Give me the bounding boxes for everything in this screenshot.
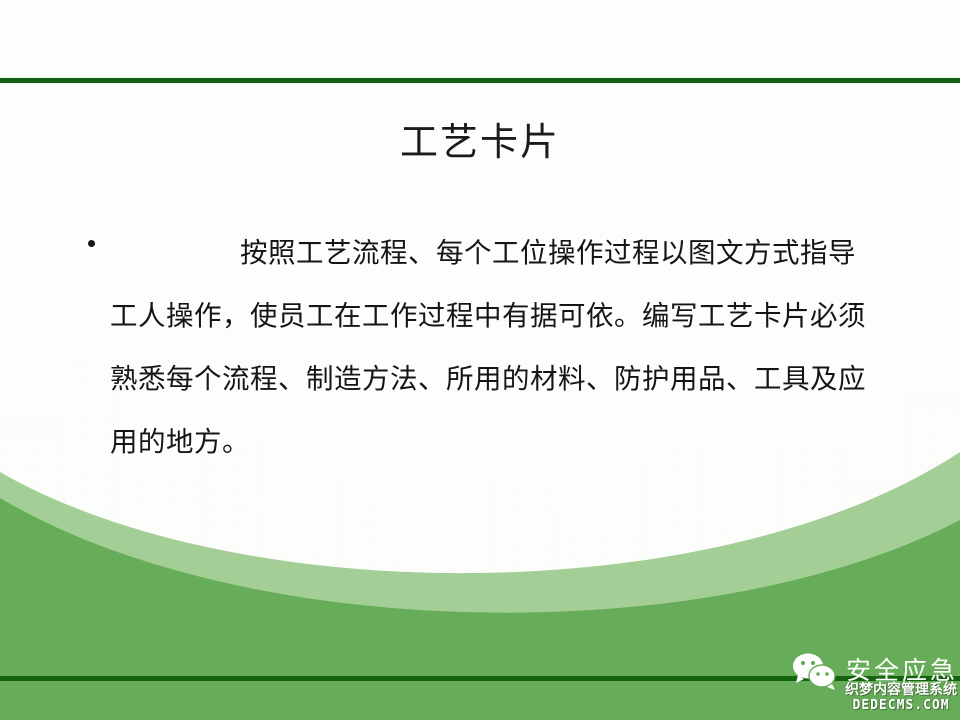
watermark-chinese-text: 织梦内容管理系统 bbox=[845, 682, 957, 698]
slide-title: 工艺卡片 bbox=[0, 118, 960, 166]
wechat-icon bbox=[792, 652, 838, 690]
presentation-slide: 工艺卡片 按照工艺流程、每个工位操作过程以图文方式指导工人操作，使员工在工作过程… bbox=[0, 0, 960, 720]
top-divider-rule bbox=[0, 78, 960, 83]
bullet-paragraph-text: 按照工艺流程、每个工位操作过程以图文方式指导工人操作，使员工在工作过程中有据可依… bbox=[88, 222, 878, 474]
site-watermark: 织梦内容管理系统 DEDECMS.COM bbox=[845, 682, 957, 713]
watermark-domain-text: DEDECMS.COM bbox=[845, 698, 957, 713]
bullet-list-item: 按照工艺流程、每个工位操作过程以图文方式指导工人操作，使员工在工作过程中有据可依… bbox=[88, 222, 878, 474]
slide-body: 按照工艺流程、每个工位操作过程以图文方式指导工人操作，使员工在工作过程中有据可依… bbox=[88, 222, 878, 474]
bullet-dot-icon bbox=[88, 240, 95, 247]
